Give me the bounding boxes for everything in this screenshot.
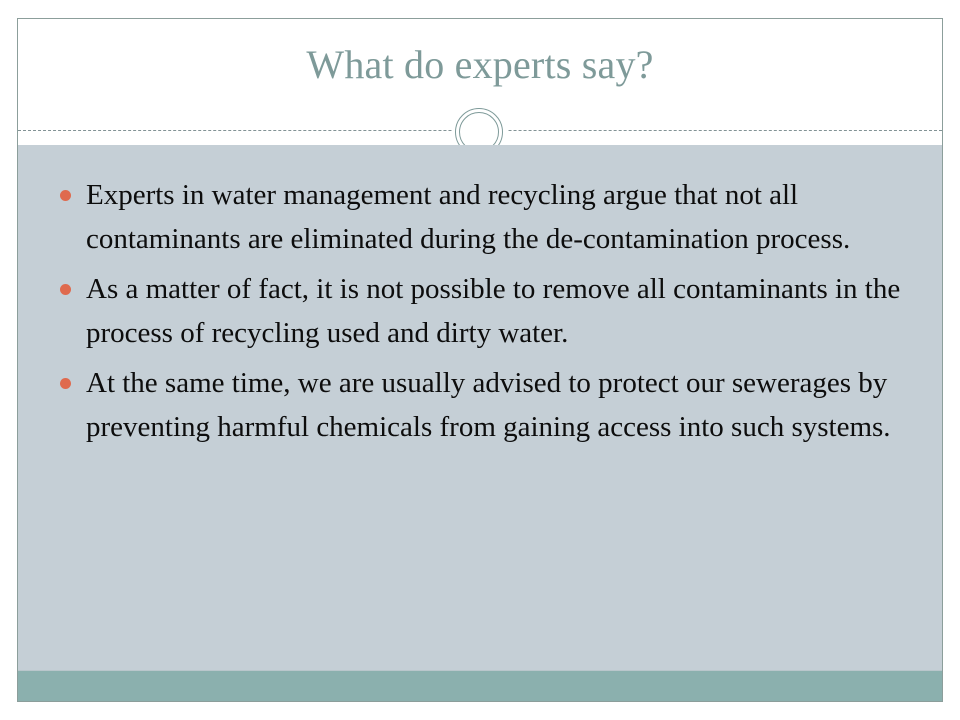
list-item: Experts in water management and recyclin… [36, 173, 912, 261]
footer-band [18, 670, 942, 701]
list-item-text: As a matter of fact, it is not possible … [86, 273, 900, 349]
list-item: At the same time, we are usually advised… [36, 361, 912, 449]
list-item-text: At the same time, we are usually advised… [86, 367, 891, 443]
page-title: What do experts say? [18, 43, 942, 87]
bullet-dot-icon [60, 378, 71, 389]
bullet-dot-icon [60, 284, 71, 295]
presentation-slide: What do experts say? Experts in water ma… [17, 18, 943, 702]
list-item-text: Experts in water management and recyclin… [86, 179, 850, 255]
list-item: As a matter of fact, it is not possible … [36, 267, 912, 355]
bullet-list: Experts in water management and recyclin… [36, 173, 912, 449]
slide-body: Experts in water management and recyclin… [18, 145, 942, 673]
bullet-dot-icon [60, 190, 71, 201]
